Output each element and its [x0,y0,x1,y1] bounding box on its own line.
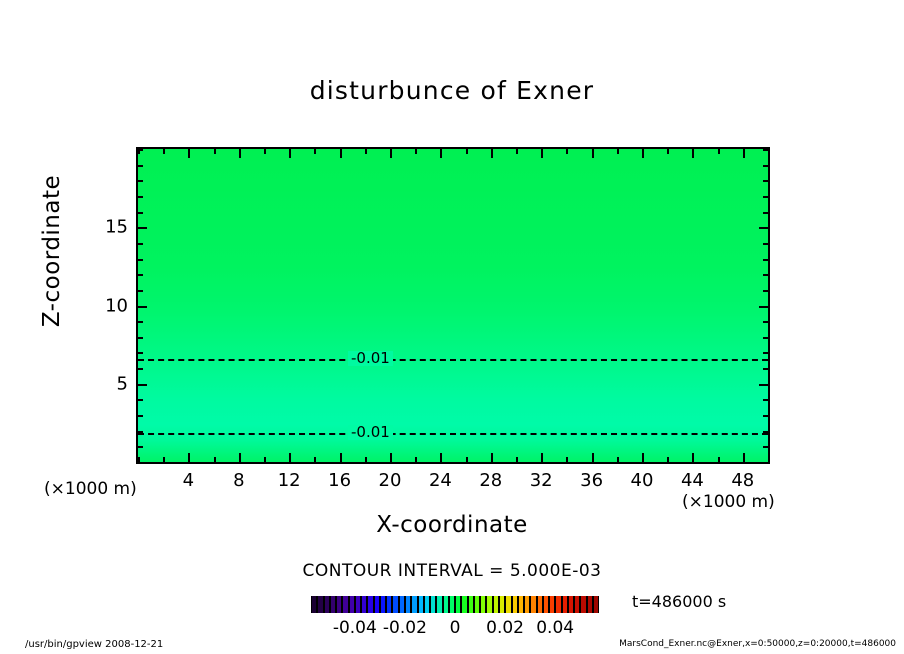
x-tick-label: 4 [183,470,194,491]
x-tick-mark [188,453,190,462]
x-tick-label: 24 [429,470,452,491]
x-tick-label: 48 [731,470,754,491]
y-tick-mark-right [763,321,768,323]
y-tick-label: 5 [100,373,128,394]
x-tick-mark-top [264,149,266,154]
y-tick-mark-right [763,274,768,276]
x-tick-mark [516,457,518,462]
colorbar-tick-label: -0.04 [333,618,377,638]
y-tick-mark [138,227,147,229]
x-tick-mark-top [743,149,745,158]
x-tick-mark-top [289,149,291,158]
footer-source-text: MarsCond_Exner.nc@Exner,x=0:50000,z=0:20… [619,639,896,649]
x-tick-mark [340,453,342,462]
x-tick-mark [415,457,417,462]
contour-line [138,359,768,361]
y-tick-mark-right [763,462,768,464]
y-tick-mark [138,462,143,464]
y-axis-title: Z-coordinate [39,151,65,351]
x-tick-mark-top [239,149,241,158]
x-tick-mark [541,453,543,462]
y-tick-mark-right [763,399,768,401]
x-tick-label: 16 [328,470,351,491]
x-tick-mark-top [314,149,316,154]
contour-line [138,433,768,435]
y-tick-mark [138,399,143,401]
x-tick-mark-top [214,149,216,154]
footer-command-text: /usr/bin/gpview 2008-12-21 [25,639,163,650]
colorbar-tick-label: 0 [450,618,461,638]
x-tick-label: 40 [631,470,654,491]
x-tick-mark-top [592,149,594,158]
time-label: t=486000 s [632,592,726,611]
x-tick-mark [768,457,770,462]
y-tick-mark-right [759,384,768,386]
y-tick-mark-right [763,180,768,182]
x-tick-mark [365,457,367,462]
x-tick-label: 44 [681,470,704,491]
x-tick-mark-top [163,149,165,154]
colorbar-tick-label: 0.04 [536,618,574,638]
y-tick-mark [138,196,143,198]
y-tick-mark [138,259,143,261]
x-tick-mark [667,457,669,462]
x-tick-label: 36 [580,470,603,491]
x-tick-mark [617,457,619,462]
x-tick-mark-top [541,149,543,158]
x-axis-title: X-coordinate [0,512,904,538]
x-axis-unit-label: (×1000 m) [682,492,775,512]
x-tick-label: 8 [233,470,244,491]
y-tick-mark-right [759,227,768,229]
x-tick-mark-top [692,149,694,158]
x-tick-mark-top [466,149,468,154]
contour-interval-label: CONTOUR INTERVAL = 5.000E-03 [0,561,904,581]
y-tick-mark-right [763,149,768,151]
y-tick-mark [138,274,143,276]
y-tick-mark-right [763,259,768,261]
x-tick-mark-top [440,149,442,158]
y-tick-mark [138,180,143,182]
x-tick-mark [466,457,468,462]
y-tick-mark [138,431,143,433]
y-tick-mark-right [763,290,768,292]
x-tick-mark-top [491,149,493,158]
x-tick-mark [289,453,291,462]
x-tick-mark [642,453,644,462]
colorbar-tick-label: -0.02 [383,618,427,638]
colorbar-cell [593,596,599,613]
y-tick-mark [138,446,143,448]
y-tick-mark-right [763,368,768,370]
plot-canvas: disturbunce of Exner -0.01-0.01 48121620… [0,0,904,654]
x-tick-mark [743,453,745,462]
y-tick-mark-right [763,446,768,448]
y-tick-mark-right [763,415,768,417]
y-tick-mark-right [763,337,768,339]
y-axis-unit-label: (×1000 m) [44,479,137,499]
colorbar [311,596,599,613]
x-tick-mark-top [340,149,342,158]
x-tick-mark [214,457,216,462]
x-tick-label: 32 [530,470,553,491]
y-tick-mark [138,368,143,370]
x-tick-mark-top [188,149,190,158]
contour-fill-area [138,149,768,462]
x-tick-mark [264,457,266,462]
y-tick-mark-right [763,196,768,198]
x-tick-mark-top [516,149,518,154]
y-tick-mark-right [763,352,768,354]
x-tick-label: 12 [278,470,301,491]
x-tick-mark-top [365,149,367,154]
x-tick-mark-top [390,149,392,158]
y-tick-label: 10 [100,295,128,316]
y-tick-mark-right [763,165,768,167]
y-tick-mark [138,415,143,417]
y-tick-mark-right [759,306,768,308]
y-tick-mark-right [763,431,768,433]
colorbar-tick-label: 0.02 [486,618,524,638]
x-tick-mark [718,457,720,462]
contour-label: -0.01 [348,351,393,366]
y-tick-mark [138,165,143,167]
plot-frame: -0.01-0.01 [136,147,770,464]
contour-label: -0.01 [348,425,393,440]
y-tick-mark [138,212,143,214]
y-tick-mark [138,243,143,245]
x-tick-mark-top [667,149,669,154]
y-tick-mark [138,306,147,308]
x-tick-mark-top [415,149,417,154]
x-tick-label: 28 [479,470,502,491]
x-tick-mark [592,453,594,462]
x-tick-mark-top [642,149,644,158]
y-tick-mark [138,384,147,386]
x-tick-label: 20 [379,470,402,491]
y-tick-mark [138,290,143,292]
x-tick-mark [491,453,493,462]
x-tick-mark-top [566,149,568,154]
x-tick-mark [566,457,568,462]
x-tick-mark [692,453,694,462]
x-tick-mark [440,453,442,462]
x-tick-mark-top [617,149,619,154]
x-tick-mark-top [768,149,770,154]
x-tick-mark [314,457,316,462]
x-tick-mark [390,453,392,462]
x-tick-mark [239,453,241,462]
y-tick-mark [138,352,143,354]
page-title: disturbunce of Exner [0,76,904,105]
y-tick-mark [138,337,143,339]
y-tick-mark-right [763,243,768,245]
y-tick-mark [138,149,143,151]
x-tick-mark [163,457,165,462]
y-tick-label: 15 [100,217,128,238]
y-tick-mark-right [763,212,768,214]
y-tick-mark [138,321,143,323]
x-tick-mark-top [718,149,720,154]
